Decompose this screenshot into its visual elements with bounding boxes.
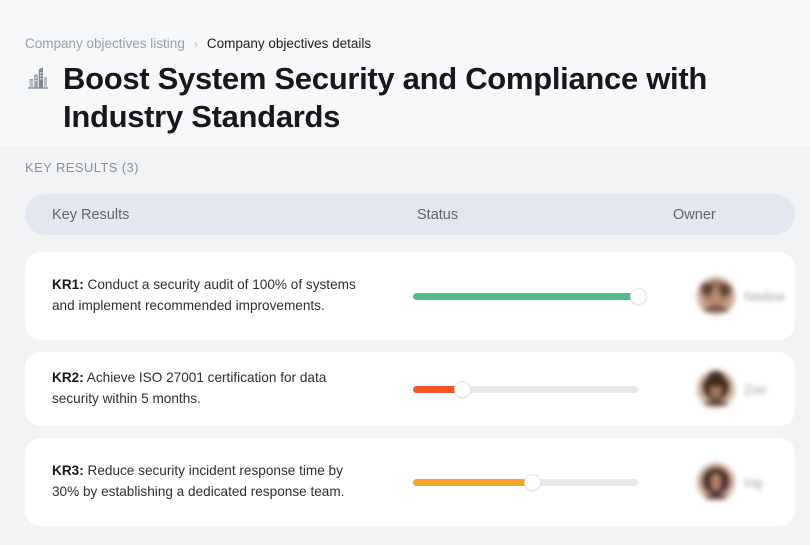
slider-handle[interactable] [631, 289, 646, 304]
owner-cell[interactable]: Ing [697, 463, 762, 501]
slider-track[interactable] [413, 479, 638, 486]
breadcrumb-current: Company objectives details [207, 36, 371, 51]
slider-fill [413, 479, 532, 486]
column-header-status: Status [417, 207, 458, 223]
owner-cell[interactable]: Nadine [697, 277, 785, 315]
page-title: Boost System Security and Compliance wit… [63, 60, 769, 136]
key-result-description: KR1: Conduct a security audit of 100% of… [52, 275, 372, 316]
owner-name: Zoe [744, 382, 766, 397]
table-header: Key Results Status Owner [25, 194, 795, 235]
breadcrumb: Company objectives listing › Company obj… [25, 36, 371, 51]
key-result-label: KR2: [52, 370, 84, 385]
key-result-description: KR2: Achieve ISO 27001 certification for… [52, 368, 372, 409]
avatar [697, 463, 735, 501]
slider-track[interactable] [413, 293, 638, 300]
progress-slider[interactable] [413, 381, 638, 397]
owner-name: Nadine [744, 289, 785, 304]
chevron-right-icon: › [194, 37, 198, 51]
objective-details-page: Company objectives listing › Company obj… [0, 0, 810, 545]
key-result-text: Reduce security incident response time b… [52, 463, 344, 499]
title-row: Boost System Security and Compliance wit… [25, 60, 785, 136]
key-result-row[interactable]: KR1: Conduct a security audit of 100% of… [25, 252, 795, 340]
slider-fill [413, 293, 638, 300]
bar-chart-buildings-icon [25, 60, 51, 94]
key-result-text: Achieve ISO 27001 certification for data… [52, 370, 326, 406]
key-results-list: KR1: Conduct a security audit of 100% of… [25, 252, 795, 538]
avatar [697, 370, 735, 408]
key-result-text: Conduct a security audit of 100% of syst… [52, 277, 356, 313]
key-results-section-label: KEY RESULTS (3) [25, 160, 139, 175]
slider-handle[interactable] [455, 382, 470, 397]
progress-slider[interactable] [413, 474, 638, 490]
slider-handle[interactable] [525, 475, 540, 490]
avatar [697, 277, 735, 315]
slider-track[interactable] [413, 386, 638, 393]
owner-cell[interactable]: Zoe [697, 370, 766, 408]
column-header-key-results: Key Results [52, 207, 129, 223]
key-result-row[interactable]: KR3: Reduce security incident response t… [25, 438, 795, 526]
column-header-owner: Owner [673, 207, 716, 223]
owner-name: Ing [744, 475, 762, 490]
key-result-row[interactable]: KR2: Achieve ISO 27001 certification for… [25, 352, 795, 426]
key-result-label: KR1: [52, 277, 84, 292]
key-result-description: KR3: Reduce security incident response t… [52, 461, 372, 502]
key-result-label: KR3: [52, 463, 84, 478]
progress-slider[interactable] [413, 288, 638, 304]
breadcrumb-parent-link[interactable]: Company objectives listing [25, 36, 185, 51]
